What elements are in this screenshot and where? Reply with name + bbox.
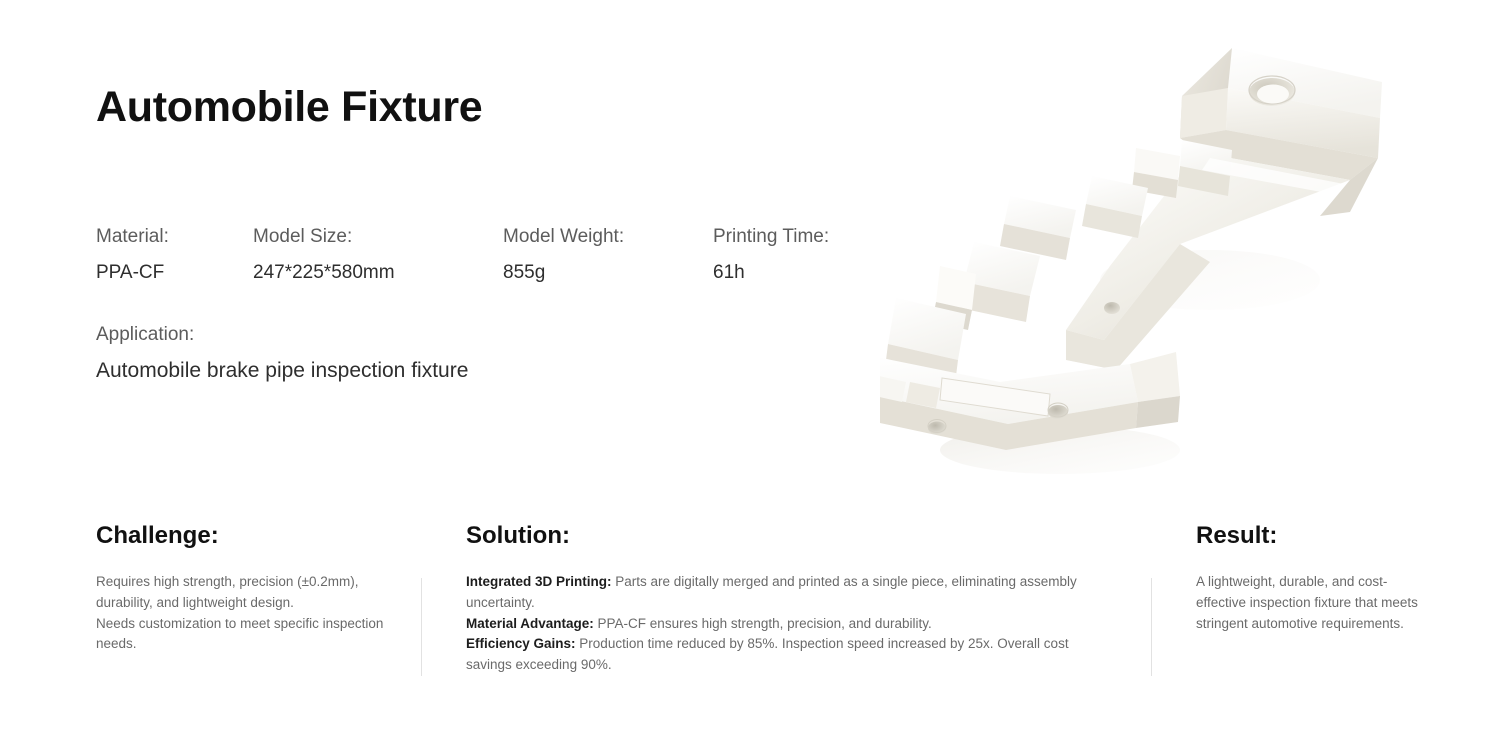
column-divider-1 (421, 578, 422, 676)
page-title: Automobile Fixture (96, 84, 482, 131)
solution-heading: Solution: (466, 520, 1116, 552)
spec-model-size-value: 247*225*580mm (253, 260, 395, 286)
solution-item-label: Efficiency Gains: (466, 636, 576, 651)
spec-material: Material: PPA-CF (96, 224, 169, 286)
solution-item-label: Integrated 3D Printing: (466, 574, 612, 589)
solution-item: Integrated 3D Printing: Parts are digita… (466, 572, 1116, 614)
challenge-line-1: Requires high strength, precision (±0.2m… (96, 572, 396, 614)
application-label: Application: (96, 322, 468, 348)
challenge-body: Requires high strength, precision (±0.2m… (96, 572, 396, 655)
spec-model-weight-label: Model Weight: (503, 224, 624, 250)
challenge-column: Challenge: Requires high strength, preci… (96, 520, 396, 655)
solution-item-label: Material Advantage: (466, 616, 594, 631)
application-block: Application: Automobile brake pipe inspe… (96, 322, 468, 385)
solution-body: Integrated 3D Printing: Parts are digita… (466, 572, 1116, 676)
challenge-heading: Challenge: (96, 520, 396, 552)
solution-item: Efficiency Gains: Production time reduce… (466, 634, 1116, 676)
result-column: Result: A lightweight, durable, and cost… (1196, 520, 1426, 634)
spec-printing-time-label: Printing Time: (713, 224, 829, 250)
spec-material-value: PPA-CF (96, 260, 169, 286)
spec-printing-time: Printing Time: 61h (713, 224, 829, 286)
result-body: A lightweight, durable, and cost-effecti… (1196, 572, 1426, 634)
spec-row: Material: PPA-CF Model Size: 247*225*580… (96, 224, 896, 294)
fixture-illustration (880, 30, 1410, 500)
spec-material-label: Material: (96, 224, 169, 250)
solution-item: Material Advantage: PPA-CF ensures high … (466, 614, 1116, 635)
solution-item-text: PPA-CF ensures high strength, precision,… (594, 616, 932, 631)
application-value: Automobile brake pipe inspection fixture (96, 357, 468, 385)
column-divider-2 (1151, 578, 1152, 676)
bottom-sections: Challenge: Requires high strength, preci… (0, 520, 1500, 750)
spec-printing-time-value: 61h (713, 260, 829, 286)
solution-column: Solution: Integrated 3D Printing: Parts … (466, 520, 1116, 676)
result-heading: Result: (1196, 520, 1426, 552)
result-text: A lightweight, durable, and cost-effecti… (1196, 572, 1426, 634)
spec-model-weight-value: 855g (503, 260, 624, 286)
spec-model-size-label: Model Size: (253, 224, 395, 250)
spec-model-size: Model Size: 247*225*580mm (253, 224, 395, 286)
challenge-line-2: Needs customization to meet specific ins… (96, 614, 396, 656)
product-image (880, 30, 1410, 500)
spec-model-weight: Model Weight: 855g (503, 224, 624, 286)
